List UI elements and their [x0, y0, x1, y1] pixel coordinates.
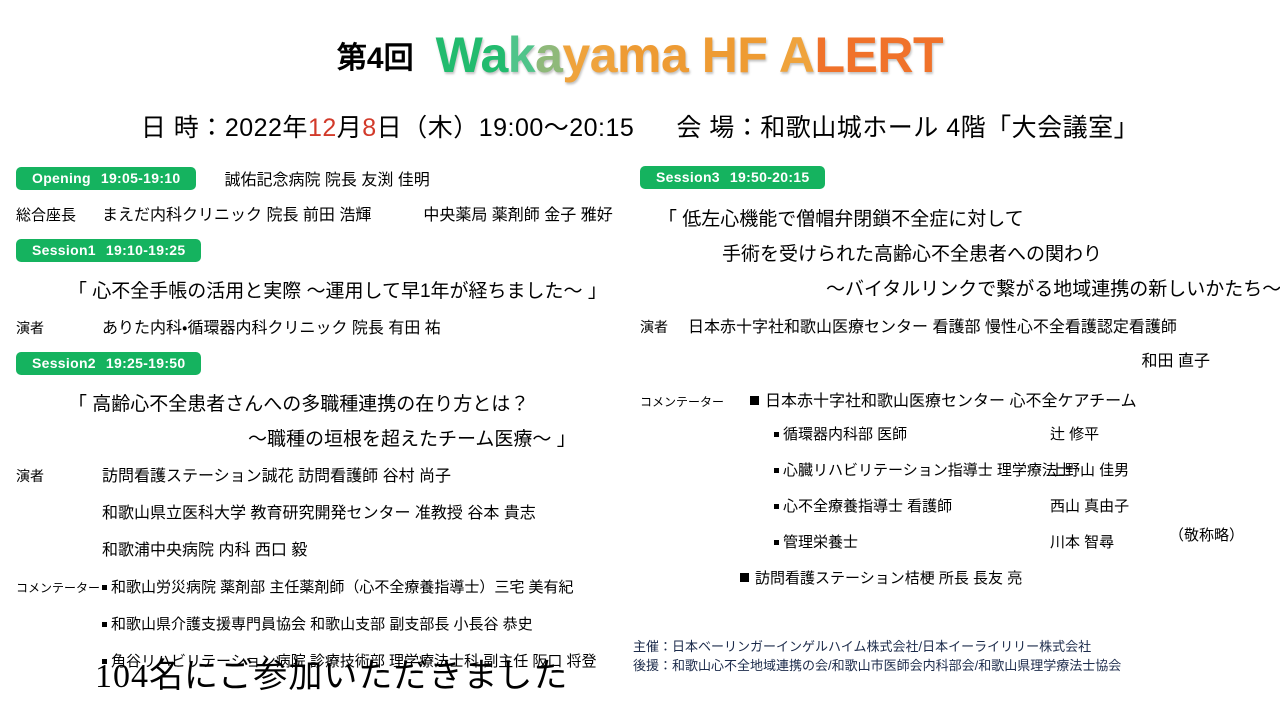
- team-member-name: 川本 智尋: [1050, 531, 1114, 552]
- bullet-square-large-icon: [740, 573, 749, 582]
- bullet-square-icon: [774, 540, 779, 545]
- team-member-role: 循環器内科部 医師: [774, 423, 1050, 444]
- badge-session3: Session319:50-20:15: [640, 166, 825, 189]
- team-member-role: 管理栄養士: [774, 531, 1050, 552]
- datetime-day: 8: [362, 114, 376, 142]
- session2-speaker-3: 和歌浦中央病院 内科 西口 毅: [102, 536, 644, 560]
- session3-commentator-label: コメンテーター: [640, 393, 750, 410]
- honorific-note: （敬称略）: [1169, 524, 1244, 545]
- datetime-month-unit: 月: [337, 114, 363, 142]
- bullet-square-icon: [774, 504, 779, 509]
- badge-session2-time: 19:25-19:50: [106, 355, 186, 371]
- venue-label: 会 場：: [676, 114, 760, 142]
- edition-label: 第4回: [337, 42, 414, 75]
- title-seg-a1: a: [480, 27, 507, 83]
- program-column-right: Session319:50-20:15 「 低左心機能で僧帽弁閉鎖不全症に対して…: [640, 166, 1272, 588]
- session2-talk-title-line1: 「 高齢心不全患者さんへの多職種連携の在り方とは？: [68, 389, 644, 416]
- poster-slide: 第4回Wakayama HF ALERT 日 時：2022年12月8日（木）19…: [0, 0, 1280, 720]
- bullet-square-large-icon: [750, 396, 759, 405]
- title-seg-a3: a: [590, 27, 617, 83]
- badge-session1: Session119:10-19:25: [16, 239, 201, 262]
- team-role-text: 心臓リハビリテーション指導士 理学療法士: [783, 462, 1072, 479]
- title-seg-a4: a: [661, 27, 688, 83]
- session1-block: Session119:10-19:25 「 心不全手帳の活用と実際 〜運用して早…: [16, 239, 644, 338]
- session3-speaker-affiliation: 日本赤十字社和歌山医療センター 看護部 慢性心不全看護認定看護師: [688, 313, 1177, 337]
- badge-opening-time: 19:05-19:10: [101, 170, 181, 186]
- commentator-text: 和歌山労災病院 薬剤部 主任薬剤師（心不全療養指導士）三宅 美有紀: [111, 579, 574, 596]
- session2-speaker-2: 和歌山県立医科大学 教育研究開発センター 准教授 谷本 貴志: [102, 499, 644, 523]
- team-member-name: 上野山 佳男: [1050, 459, 1129, 480]
- team-member-row: 循環器内科部 医師 辻 修平: [774, 423, 1272, 444]
- title-seg-m: m: [617, 27, 661, 83]
- session3-speaker-row: 演者 日本赤十字社和歌山医療センター 看護部 慢性心不全看護認定看護師: [640, 313, 1272, 337]
- last-commentator-text: 訪問看護ステーション桔梗 所長 長友 亮: [755, 570, 1022, 587]
- title-seg-a2: a: [535, 27, 562, 83]
- datetime-rest: （木）19:00〜20:15: [402, 114, 634, 142]
- opening-row: Opening19:05-19:10 誠佑記念病院 院長 友渕 佳明: [16, 166, 644, 190]
- badge-session1-name: Session1: [32, 242, 96, 258]
- session2-commentator-label: コメンテーター: [16, 579, 102, 596]
- session2-talk-title-line2: 〜職種の垣根を超えたチーム医療〜 」: [248, 424, 644, 451]
- session2-speaker-row: 演者 訪問看護ステーション誠花 訪問看護師 谷村 尚子: [16, 462, 644, 486]
- badge-session2: Session219:25-19:50: [16, 352, 201, 375]
- datetime-month: 12: [308, 114, 337, 142]
- title-seg-R: R: [877, 27, 913, 83]
- datetime-year: 2022年: [225, 114, 308, 142]
- team-member-row: 心臓リハビリテーション指導士 理学療法士 上野山 佳男: [774, 459, 1272, 480]
- session3-talk-title-line1: 「 低左心機能で僧帽弁閉鎖不全症に対して: [658, 204, 1272, 231]
- bullet-square-icon: [102, 585, 107, 590]
- team-role-text: 心不全療養指導士 看護師: [783, 498, 952, 515]
- title-seg-H: H: [688, 27, 737, 83]
- badge-opening-name: Opening: [32, 170, 91, 186]
- event-meta: 日 時：2022年12月8日（木）19:00〜20:15会 場：和歌山城ホール …: [0, 108, 1280, 144]
- team-member-role: 心臓リハビリテーション指導士 理学療法士: [774, 459, 1050, 480]
- venue-value: 和歌山城ホール 4階「大会議室」: [760, 114, 1139, 142]
- session3-team-heading: 日本赤十字社和歌山医療センター 心不全ケアチーム: [750, 387, 1137, 411]
- general-chair-person-a: まえだ内科クリニック 院長 前田 浩輝: [102, 201, 371, 225]
- team-member-name: 辻 修平: [1050, 423, 1099, 444]
- general-chair-row: 総合座長 まえだ内科クリニック 院長 前田 浩輝 中央薬局 薬剤師 金子 雅好: [16, 201, 644, 225]
- support-line: 後援：和歌山心不全地域連携の会/和歌山市医師会内科部会/和歌山県理学療法士協会: [633, 656, 1121, 675]
- opening-chair: 誠佑記念病院 院長 友渕 佳明: [224, 166, 429, 190]
- session3-speaker-label: 演者: [640, 317, 688, 337]
- session1-speaker-label: 演者: [16, 318, 102, 338]
- badge-session2-name: Session2: [32, 355, 96, 371]
- general-chair-person-b: 中央薬局 薬剤師 金子 雅好: [423, 201, 612, 225]
- team-member-name: 西山 真由子: [1050, 495, 1129, 516]
- badge-session1-time: 19:10-19:25: [106, 242, 186, 258]
- commentator-item: 和歌山労災病院 薬剤部 主任薬剤師（心不全療養指導士）三宅 美有紀: [102, 576, 597, 597]
- session2-speaker-1: 訪問看護ステーション誠花 訪問看護師 谷村 尚子: [102, 462, 451, 486]
- team-role-text: 管理栄養士: [783, 534, 858, 551]
- bullet-square-icon: [774, 432, 779, 437]
- title-seg-W: W: [436, 27, 481, 83]
- commentator-text: 和歌山県介護支援専門員協会 和歌山支部 副支部長 小長谷 恭史: [111, 616, 533, 633]
- badge-opening: Opening19:05-19:10: [16, 167, 196, 190]
- title-seg-y: y: [562, 27, 589, 83]
- session1-talk-title: 「 心不全手帳の活用と実際 〜運用して早1年が経ちました〜 」: [68, 276, 644, 303]
- title-seg-A: A: [767, 27, 814, 83]
- title-seg-k: k: [508, 27, 535, 83]
- sponsor-block: 主催：日本ベーリンガーインゲルハイム株式会社/日本イーライリリー株式会社 後援：…: [633, 637, 1121, 675]
- session2-block: Session219:25-19:50 「 高齢心不全患者さんへの多職種連携の在…: [16, 352, 644, 671]
- title-seg-E: E: [845, 27, 878, 83]
- datetime-day-unit: 日: [377, 114, 403, 142]
- organizer-line: 主催：日本ベーリンガーインゲルハイム株式会社/日本イーライリリー株式会社: [633, 637, 1121, 656]
- session1-speaker: ありた内科・循環器内科クリニック 院長 有田 祐: [102, 314, 441, 338]
- bullet-square-icon: [102, 622, 107, 627]
- session1-speaker-row: 演者 ありた内科・循環器内科クリニック 院長 有田 祐: [16, 314, 644, 338]
- badge-session3-time: 19:50-20:15: [730, 169, 810, 185]
- poster-title: 第4回Wakayama HF ALERT: [0, 26, 1280, 84]
- team-member-role: 心不全療養指導士 看護師: [774, 495, 1050, 516]
- bullet-square-icon: [774, 468, 779, 473]
- participants-count: 104名にご参加いただきました: [95, 648, 568, 697]
- title-seg-F: F: [737, 27, 767, 83]
- event-title: Wakayama HF ALERT: [436, 27, 943, 83]
- general-chair-label: 総合座長: [16, 204, 76, 225]
- datetime-label: 日 時：: [141, 114, 225, 142]
- title-seg-L: L: [815, 27, 845, 83]
- title-seg-T: T: [913, 27, 943, 83]
- session3-last-commentator: 訪問看護ステーション桔梗 所長 長友 亮: [740, 567, 1272, 588]
- commentator-item: 和歌山県介護支援専門員協会 和歌山支部 副支部長 小長谷 恭史: [102, 613, 597, 634]
- session3-talk-title-line3: 〜バイタルリンクで繋がる地域連携の新しいかたち〜 」: [826, 274, 1272, 301]
- session3-commentator-block: コメンテーター 日本赤十字社和歌山医療センター 心不全ケアチーム: [640, 387, 1272, 411]
- session3-talk-title-line2: 手術を受けられた高齢心不全患者への関わり: [722, 239, 1272, 266]
- program-column-left: Opening19:05-19:10 誠佑記念病院 院長 友渕 佳明 総合座長 …: [16, 166, 644, 671]
- session2-speaker-label: 演者: [16, 466, 102, 486]
- badge-session3-name: Session3: [656, 169, 720, 185]
- team-heading-text: 日本赤十字社和歌山医療センター 心不全ケアチーム: [765, 393, 1137, 410]
- team-role-text: 循環器内科部 医師: [783, 426, 907, 443]
- session3-speaker-name: 和田 直子: [640, 347, 1272, 371]
- team-member-row: 心不全療養指導士 看護師 西山 真由子: [774, 495, 1272, 516]
